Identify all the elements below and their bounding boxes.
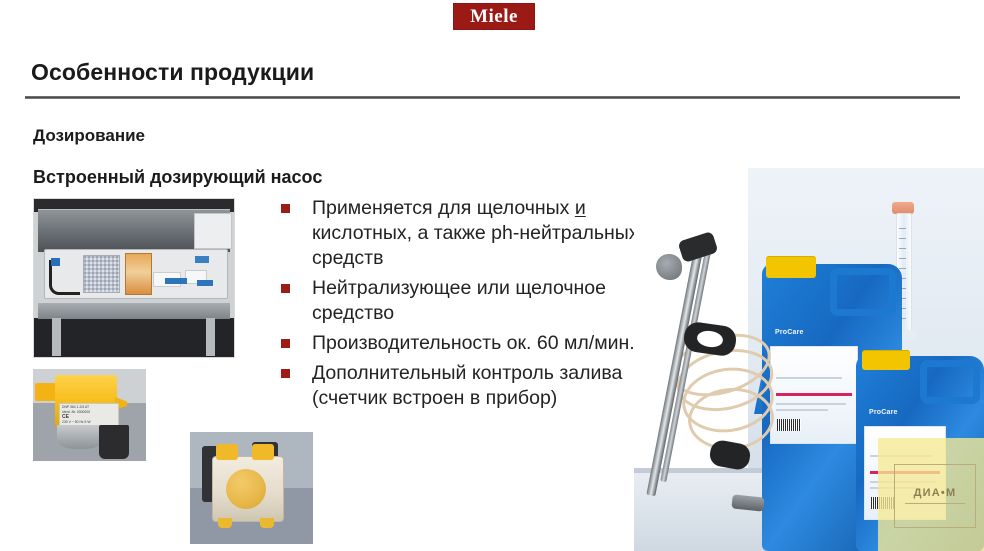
square-bullet-icon: [281, 204, 290, 213]
machine-floor-shadow: [34, 318, 234, 357]
machine-filter-grid: [83, 255, 120, 293]
canister-small-brand: ProCare: [869, 409, 898, 416]
machine-base-rail: [38, 302, 230, 319]
machine-blue-connector: [51, 258, 60, 266]
label-rule: [776, 377, 842, 379]
module-diaphragm-disc: [226, 469, 266, 509]
machine-open-panel: [44, 249, 228, 299]
cylinder-tick: [899, 258, 906, 259]
slide-root: Miele Особенности продукции Дозирование …: [0, 0, 984, 551]
machine-side-tray: [194, 213, 232, 249]
label-barcode: [777, 419, 801, 431]
cylinder-tick: [899, 268, 906, 269]
canister-big-brand: ProCare: [775, 329, 804, 336]
miele-logo: Miele: [453, 3, 535, 30]
cylinder-tick: [899, 248, 906, 249]
machine-leg-left: [52, 318, 61, 356]
machine-dosing-pump: [125, 253, 152, 295]
cylinder-tick: [899, 228, 906, 229]
pump-motor-block: [99, 425, 129, 459]
label-red-stripe: [776, 393, 852, 396]
list-item: Производительность ок. 60 мл/мин.: [281, 331, 651, 356]
lance-cap: [656, 254, 682, 280]
page-title: Особенности продукции: [31, 59, 314, 86]
label-rule: [776, 403, 846, 405]
suction-lance: [634, 228, 764, 538]
watermark-underline: [905, 503, 965, 504]
module-foot-right: [260, 518, 274, 528]
bullet-text-1: Применяется для щелочных и кислотных, а …: [312, 197, 639, 269]
bullet-text-3: Производительность ок. 60 мл/мин.: [312, 332, 635, 354]
machine-blue-hose-c: [165, 278, 187, 284]
square-bullet-icon: [281, 284, 290, 293]
module-cap-left: [216, 444, 238, 460]
bullet-text-4: Дополнительный контроль залива (счетчик …: [312, 362, 622, 409]
section-heading: Дозирование: [33, 126, 145, 146]
canister-big-label: ProCare: [770, 346, 858, 444]
cylinder-tick: [899, 238, 906, 239]
machine-leg-right: [206, 318, 215, 356]
dosing-module-photo: [190, 432, 313, 544]
canister-big-handle: [830, 268, 896, 316]
pump-flange: [57, 425, 103, 449]
list-item: Дополнительный контроль залива (счетчик …: [281, 361, 651, 411]
module-foot-left: [218, 518, 232, 528]
module-cap-right: [252, 444, 274, 460]
canister-small-handle: [920, 360, 980, 404]
lance-head: [677, 231, 718, 263]
canister-big-cap: [766, 256, 816, 278]
watermark-frame: ДИА•М: [894, 464, 976, 528]
watermark-text: ДИА•М: [895, 487, 975, 499]
square-bullet-icon: [281, 369, 290, 378]
watermark-overlay: ДИА•М: [878, 438, 984, 551]
pump-rating-label: DNP 364 1.2/3 AT Ident.-Nr. 0000000 CE 2…: [59, 403, 119, 427]
topic-heading: Встроенный дозирующий насос: [33, 167, 322, 188]
square-bullet-icon: [281, 339, 290, 348]
list-item: Нейтрализующее или щелочное средство: [281, 276, 651, 326]
label-rule: [776, 409, 828, 411]
machine-blue-hose-b: [195, 256, 209, 263]
yellow-dosing-pump-photo: DNP 364 1.2/3 AT Ident.-Nr. 0000000 CE 2…: [33, 369, 146, 461]
bullet-text-2: Нейтрализующее или щелочное средство: [312, 277, 606, 324]
machine-blue-hose-d: [197, 280, 213, 286]
list-item: Применяется для щелочных и кислотных, а …: [281, 196, 651, 271]
lance-foot: [731, 494, 764, 511]
title-divider: [25, 96, 960, 99]
feature-bullet-list: Применяется для щелочных и кислотных, а …: [281, 196, 651, 416]
canister-small-cap: [862, 350, 910, 370]
miele-logo-text: Miele: [470, 7, 518, 27]
machine-interior-photo: [33, 198, 235, 358]
